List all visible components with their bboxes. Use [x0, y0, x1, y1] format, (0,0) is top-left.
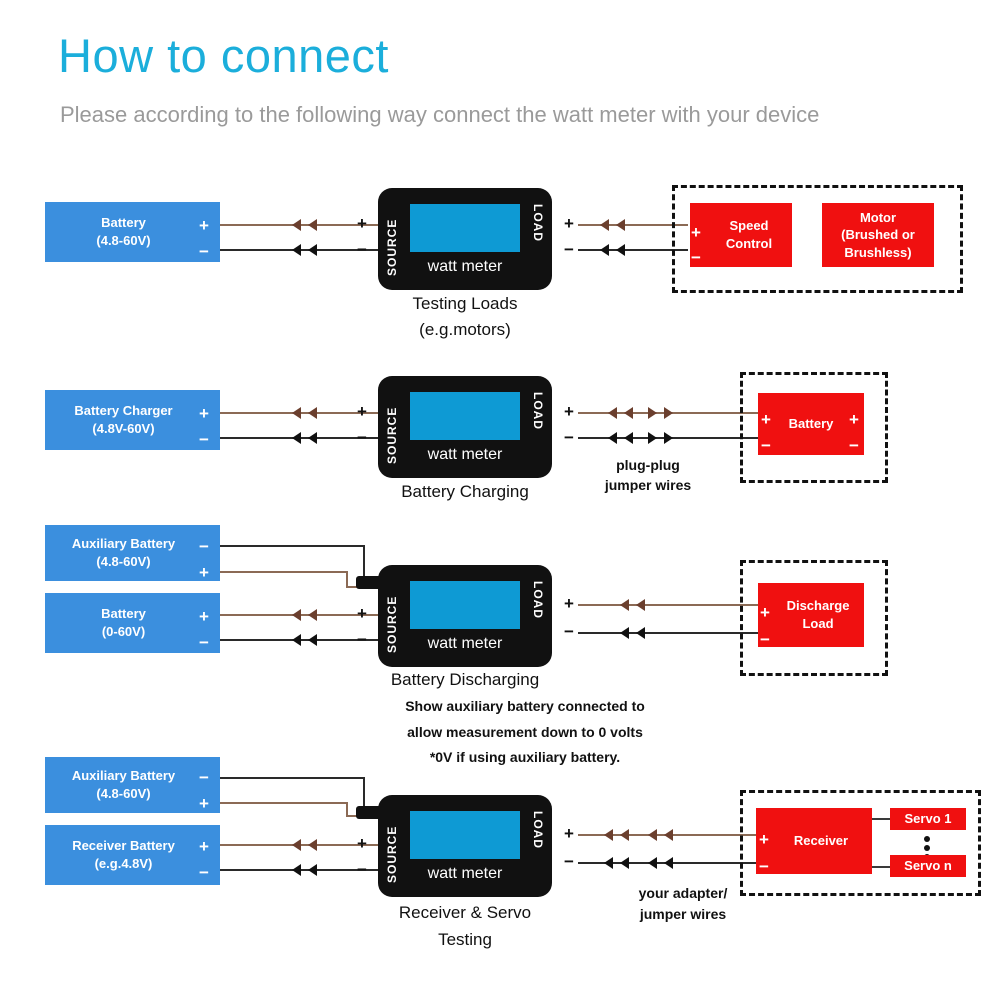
- meter-lcd-screen: [410, 204, 520, 252]
- load-block-motor: Motor (Brushed or Brushless): [822, 203, 934, 267]
- meter-lcd-screen: [410, 811, 520, 859]
- meter-brand-label: watt meter: [378, 865, 552, 883]
- arrow-left-icon: [604, 857, 613, 869]
- load-label-line2: (Brushed or: [841, 226, 915, 244]
- row-caption-line1: Testing Loads: [375, 294, 555, 314]
- ellipsis-dot: [924, 845, 930, 851]
- source-label-line2: (e.g.4.8V): [72, 855, 175, 873]
- arrow-right-icon: [648, 432, 657, 444]
- wire-aux-positive: [220, 571, 348, 573]
- arrow-left-icon: [292, 244, 301, 256]
- meter-load-plus: +: [562, 595, 576, 612]
- meter-lcd-screen: [410, 581, 520, 629]
- source-terminal-negative: −: [196, 243, 212, 260]
- source-terminal-positive: +: [196, 838, 212, 855]
- arrow-left-icon: [616, 244, 625, 256]
- load-block-receiver: Receiver: [756, 808, 872, 874]
- arrow-left-icon: [664, 857, 673, 869]
- arrow-left-icon: [616, 219, 625, 231]
- arrow-left-icon: [620, 599, 629, 611]
- source-label-line1: Receiver Battery: [72, 837, 175, 855]
- load-terminal-negative-right: −: [846, 437, 862, 454]
- source-label-line1: Battery Charger: [74, 402, 172, 420]
- load-label-line1: Speed: [726, 217, 772, 235]
- arrow-left-icon: [292, 839, 301, 851]
- meter-load-plus: +: [562, 825, 576, 842]
- load-label-line1: Servo 1: [905, 810, 952, 828]
- arrow-right-icon: [664, 407, 673, 419]
- wire-aux-negative: [220, 777, 365, 779]
- arrow-left-icon: [620, 857, 629, 869]
- arrow-left-icon: [292, 864, 301, 876]
- source-label-line2: (4.8-60V): [72, 553, 175, 571]
- source-terminal-positive: +: [196, 564, 212, 581]
- wire-aux-positive-vertical: [346, 802, 348, 816]
- arrow-left-icon: [308, 219, 317, 231]
- watt-meter: SOURCE LOAD watt meter: [378, 565, 552, 667]
- meter-brand-label: watt meter: [378, 446, 552, 464]
- arrow-left-icon: [604, 829, 613, 841]
- wire-note-line2: jumper wires: [578, 477, 718, 493]
- arrow-left-icon: [308, 407, 317, 419]
- load-block-discharge-load: Discharge Load: [758, 583, 864, 647]
- source-terminal-positive: +: [196, 217, 212, 234]
- load-terminal-positive: +: [757, 604, 773, 621]
- arrow-left-icon: [308, 244, 317, 256]
- source-label-line2: (4.8-60V): [96, 232, 150, 250]
- arrow-left-icon: [308, 634, 317, 646]
- source-terminal-positive: +: [196, 405, 212, 422]
- source-label-line2: (4.8-60V): [72, 785, 175, 803]
- row-note-line2: allow measurement down to 0 volts: [360, 724, 690, 740]
- arrow-right-icon: [664, 432, 673, 444]
- load-block-servo-n: Servo n: [890, 855, 966, 877]
- load-terminal-negative: −: [756, 858, 772, 875]
- ellipsis-dot: [924, 836, 930, 842]
- wire-aux-positive: [220, 802, 348, 804]
- load-terminal-positive: +: [688, 224, 704, 241]
- source-terminal-negative: −: [196, 864, 212, 881]
- page-title: How to connect: [58, 28, 389, 83]
- source-terminal-negative: −: [196, 538, 212, 555]
- arrow-left-icon: [292, 432, 301, 444]
- source-block-receiver-battery: Receiver Battery (e.g.4.8V): [45, 825, 220, 885]
- row-caption-line1: Battery Discharging: [375, 670, 555, 690]
- source-label-line1: Auxiliary Battery: [72, 767, 175, 785]
- meter-load-minus: −: [562, 853, 576, 870]
- row-note-line1: Show auxiliary battery connected to: [360, 698, 690, 714]
- meter-source-minus: −: [355, 241, 369, 258]
- arrow-right-icon: [648, 407, 657, 419]
- wire-note-line2: jumper wires: [608, 906, 758, 922]
- arrow-left-icon: [308, 609, 317, 621]
- source-block-battery-charger: Battery Charger (4.8V-60V): [45, 390, 220, 450]
- meter-source-minus: −: [355, 429, 369, 446]
- arrow-left-icon: [620, 627, 629, 639]
- row-caption-line1: Battery Charging: [375, 482, 555, 502]
- arrow-left-icon: [620, 829, 629, 841]
- load-label-line2: Load: [787, 615, 850, 633]
- meter-source-minus: −: [355, 861, 369, 878]
- meter-source-minus: −: [355, 631, 369, 648]
- load-label-line2: Control: [726, 235, 772, 253]
- meter-source-plus: +: [355, 403, 369, 420]
- source-terminal-positive: +: [196, 608, 212, 625]
- load-terminal-positive-right: +: [846, 411, 862, 428]
- source-label-line1: Battery: [101, 605, 146, 623]
- load-label-line3: Brushless): [841, 244, 915, 262]
- load-label-line1: Servo n: [904, 857, 952, 875]
- meter-source-plus: +: [355, 605, 369, 622]
- arrow-left-icon: [664, 829, 673, 841]
- meter-brand-label: watt meter: [378, 258, 552, 276]
- wire-negative: [578, 632, 758, 634]
- wire-note-line1: plug-plug: [578, 457, 718, 473]
- arrow-left-icon: [600, 244, 609, 256]
- wire-receiver-to-servon: [872, 866, 892, 868]
- source-block-auxiliary-battery: Auxiliary Battery (4.8-60V): [45, 525, 220, 581]
- source-terminal-negative: −: [196, 634, 212, 651]
- load-terminal-negative: −: [688, 249, 704, 266]
- arrow-left-icon: [648, 857, 657, 869]
- page-subtitle: Please according to the following way co…: [60, 102, 819, 128]
- arrow-left-icon: [292, 609, 301, 621]
- meter-load-label: LOAD: [531, 204, 545, 262]
- source-label-line2: (0-60V): [101, 623, 146, 641]
- meter-load-minus: −: [562, 241, 576, 258]
- source-terminal-positive: +: [196, 795, 212, 812]
- load-label-line1: Receiver: [794, 832, 848, 850]
- row-caption-line2: Testing: [365, 930, 565, 950]
- watt-meter: SOURCE LOAD watt meter: [378, 188, 552, 290]
- arrow-left-icon: [600, 219, 609, 231]
- load-terminal-positive: +: [756, 831, 772, 848]
- meter-source-plus: +: [355, 215, 369, 232]
- arrow-left-icon: [308, 839, 317, 851]
- load-label-line1: Battery: [789, 415, 834, 433]
- source-block-battery: Battery (0-60V): [45, 593, 220, 653]
- meter-load-plus: +: [562, 215, 576, 232]
- wire-receiver-to-servo1: [872, 818, 892, 820]
- wire-aux-negative: [220, 545, 365, 547]
- arrow-left-icon: [608, 432, 617, 444]
- meter-load-label: LOAD: [531, 392, 545, 450]
- load-label-line1: Motor: [841, 209, 915, 227]
- arrow-left-icon: [636, 599, 645, 611]
- source-label-line1: Auxiliary Battery: [72, 535, 175, 553]
- meter-load-plus: +: [562, 403, 576, 420]
- meter-source-plus: +: [355, 835, 369, 852]
- source-label-line1: Battery: [96, 214, 150, 232]
- arrow-left-icon: [308, 864, 317, 876]
- load-block-servo-1: Servo 1: [890, 808, 966, 830]
- source-terminal-negative: −: [196, 769, 212, 786]
- row-caption-line2: (e.g.motors): [375, 320, 555, 340]
- wire-note-line1: your adapter/: [608, 885, 758, 901]
- watt-meter: SOURCE LOAD watt meter: [378, 376, 552, 478]
- arrow-left-icon: [648, 829, 657, 841]
- meter-load-minus: −: [562, 429, 576, 446]
- source-terminal-negative: −: [196, 431, 212, 448]
- arrow-left-icon: [308, 432, 317, 444]
- meter-brand-label: watt meter: [378, 635, 552, 653]
- meter-lcd-screen: [410, 392, 520, 440]
- source-block-battery: Battery (4.8-60V): [45, 202, 220, 262]
- load-terminal-negative: −: [757, 631, 773, 648]
- source-block-auxiliary-battery: Auxiliary Battery (4.8-60V): [45, 757, 220, 813]
- wire-positive: [578, 604, 758, 606]
- arrow-left-icon: [292, 634, 301, 646]
- arrow-left-icon: [624, 407, 633, 419]
- load-label-line1: Discharge: [787, 597, 850, 615]
- arrow-left-icon: [636, 627, 645, 639]
- arrow-left-icon: [292, 219, 301, 231]
- load-terminal-negative: −: [758, 437, 774, 454]
- diagram-canvas: How to connect Please according to the f…: [0, 0, 1000, 1000]
- arrow-left-icon: [608, 407, 617, 419]
- source-label-line2: (4.8V-60V): [74, 420, 172, 438]
- row-note-line3: *0V if using auxiliary battery.: [360, 749, 690, 765]
- load-block-speed-control: Speed Control: [690, 203, 792, 267]
- load-terminal-positive: +: [758, 411, 774, 428]
- arrow-left-icon: [624, 432, 633, 444]
- arrow-left-icon: [292, 407, 301, 419]
- meter-load-minus: −: [562, 623, 576, 640]
- watt-meter: SOURCE LOAD watt meter: [378, 795, 552, 897]
- wire-aux-positive-vertical: [346, 571, 348, 587]
- meter-load-label: LOAD: [531, 811, 545, 869]
- row-caption-line1: Receiver & Servo: [365, 903, 565, 923]
- meter-load-label: LOAD: [531, 581, 545, 639]
